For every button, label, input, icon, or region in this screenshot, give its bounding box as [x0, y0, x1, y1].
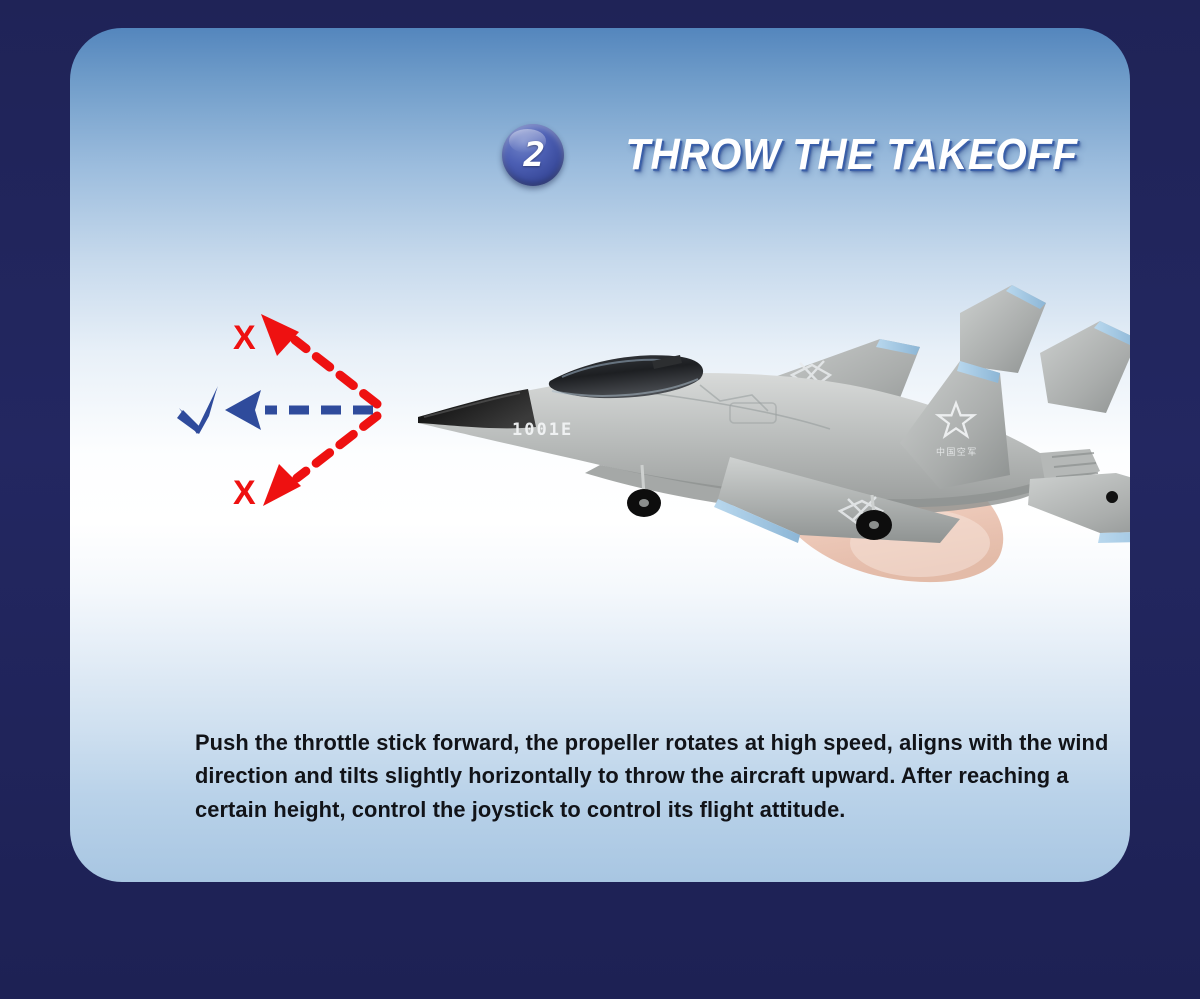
step-number-badge: 2 [502, 124, 564, 186]
throw-direction-diagram [165, 298, 415, 533]
aircraft-photo: 1001E [400, 243, 1130, 583]
rear-stabilizers [1028, 473, 1130, 543]
step-header: 2 THROW THE TAKEOFF [70, 120, 1130, 190]
page-title: THROW THE TAKEOFF [626, 130, 1078, 180]
step-number-label: 2 [523, 138, 543, 172]
svg-text:中国空军: 中国空军 [936, 446, 978, 458]
instruction-card: 2 THROW THE TAKEOFF [70, 28, 1130, 882]
correct-check-icon [177, 386, 218, 434]
wrong-up-arrow [261, 314, 377, 404]
instruction-card-page: 2 THROW THE TAKEOFF [0, 0, 1200, 999]
correct-horizontal-arrow [225, 390, 373, 430]
wrong-down-arrow [263, 416, 377, 506]
wrong-mark-bottom: X [233, 476, 256, 510]
wrong-mark-top: X [233, 321, 256, 355]
nose-marking-text: 1001E [512, 420, 573, 440]
instruction-caption: Push the throttle stick forward, the pro… [195, 726, 1130, 826]
